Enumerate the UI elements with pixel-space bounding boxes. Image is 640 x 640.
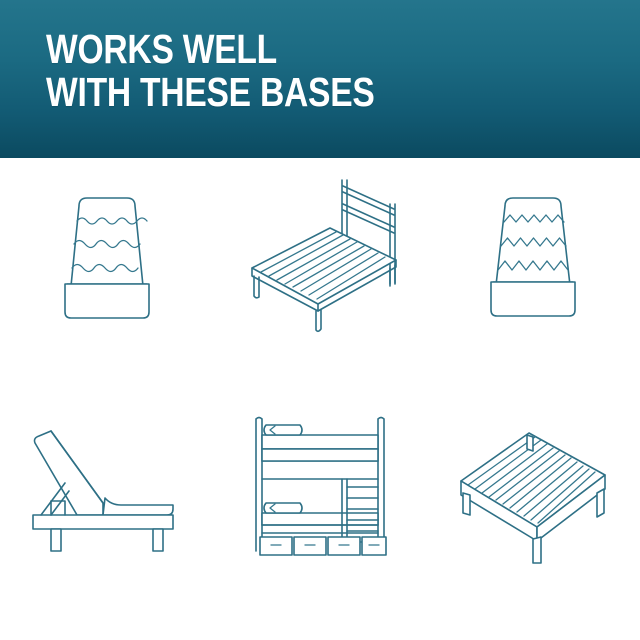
header-banner: WORKS WELL WITH THESE BASES (0, 0, 640, 158)
base-card-foundation[interactable]: Foundation (0, 158, 213, 399)
base-card-box-spring[interactable]: Box Spring (427, 158, 640, 399)
slatted-platform-bed-icon (230, 164, 410, 334)
bases-grid: Foundation (0, 158, 640, 640)
base-card-slatted-platform[interactable]: Slatted Platform (213, 158, 426, 399)
foundation-mattress-icon (17, 164, 197, 334)
box-spring-icon (443, 164, 623, 334)
works-well-with-these-bases-graphic: WORKS WELL WITH THESE BASES Fou (0, 0, 640, 640)
flat-platform-bed-icon (443, 405, 623, 575)
base-label-bunk-bed: Bunk Bed (272, 575, 368, 602)
base-label-slatted-platform: Slatted Platform (252, 336, 387, 363)
base-label-flat-platform-bed: Flat Platform Bed (461, 575, 605, 602)
bunk-bed-icon (230, 405, 410, 575)
base-card-flat-platform-bed[interactable]: Flat Platform Bed (427, 399, 640, 640)
base-label-foundation: Foundation (54, 336, 160, 363)
adjustable-base-icon (17, 405, 197, 575)
base-card-adjustable-base[interactable]: Adjustable Base (0, 399, 213, 640)
page-title: WORKS WELL WITH THESE BASES (46, 28, 375, 114)
base-card-bunk-bed[interactable]: Bunk Bed (213, 399, 426, 640)
base-label-adjustable-base: Adjustable Base (38, 575, 175, 602)
base-label-box-spring: Box Spring (481, 336, 585, 363)
